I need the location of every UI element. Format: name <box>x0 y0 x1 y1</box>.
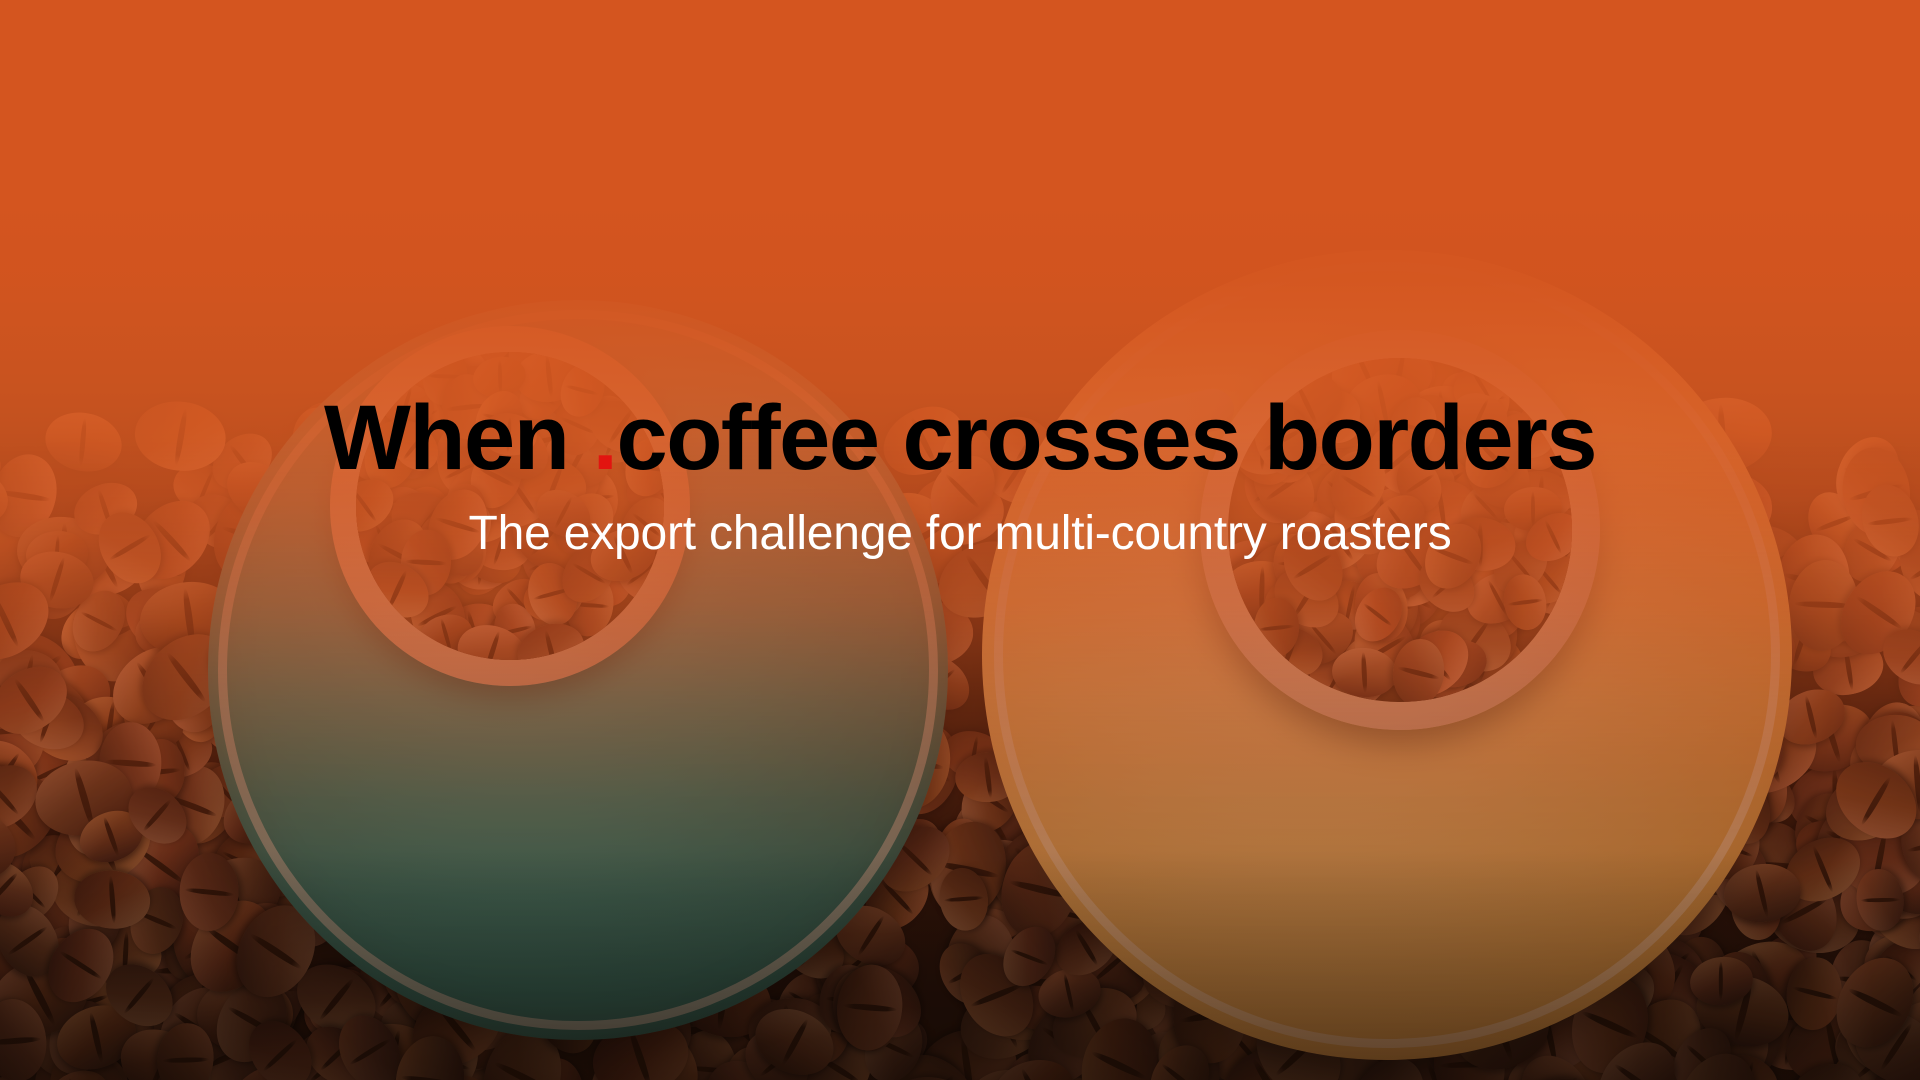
title-slide: When .coffee crosses borders The export … <box>0 0 1920 1080</box>
title-accent-dot: . <box>592 387 616 489</box>
title-block: When .coffee crosses borders The export … <box>0 392 1920 558</box>
title-lead: When <box>324 387 592 489</box>
slide-subtitle: The export challenge for multi-country r… <box>0 510 1920 558</box>
slide-title: When .coffee crosses borders <box>0 392 1920 484</box>
title-rest: coffee crosses borders <box>617 387 1596 489</box>
bottom-shadow-overlay <box>0 850 1920 1080</box>
